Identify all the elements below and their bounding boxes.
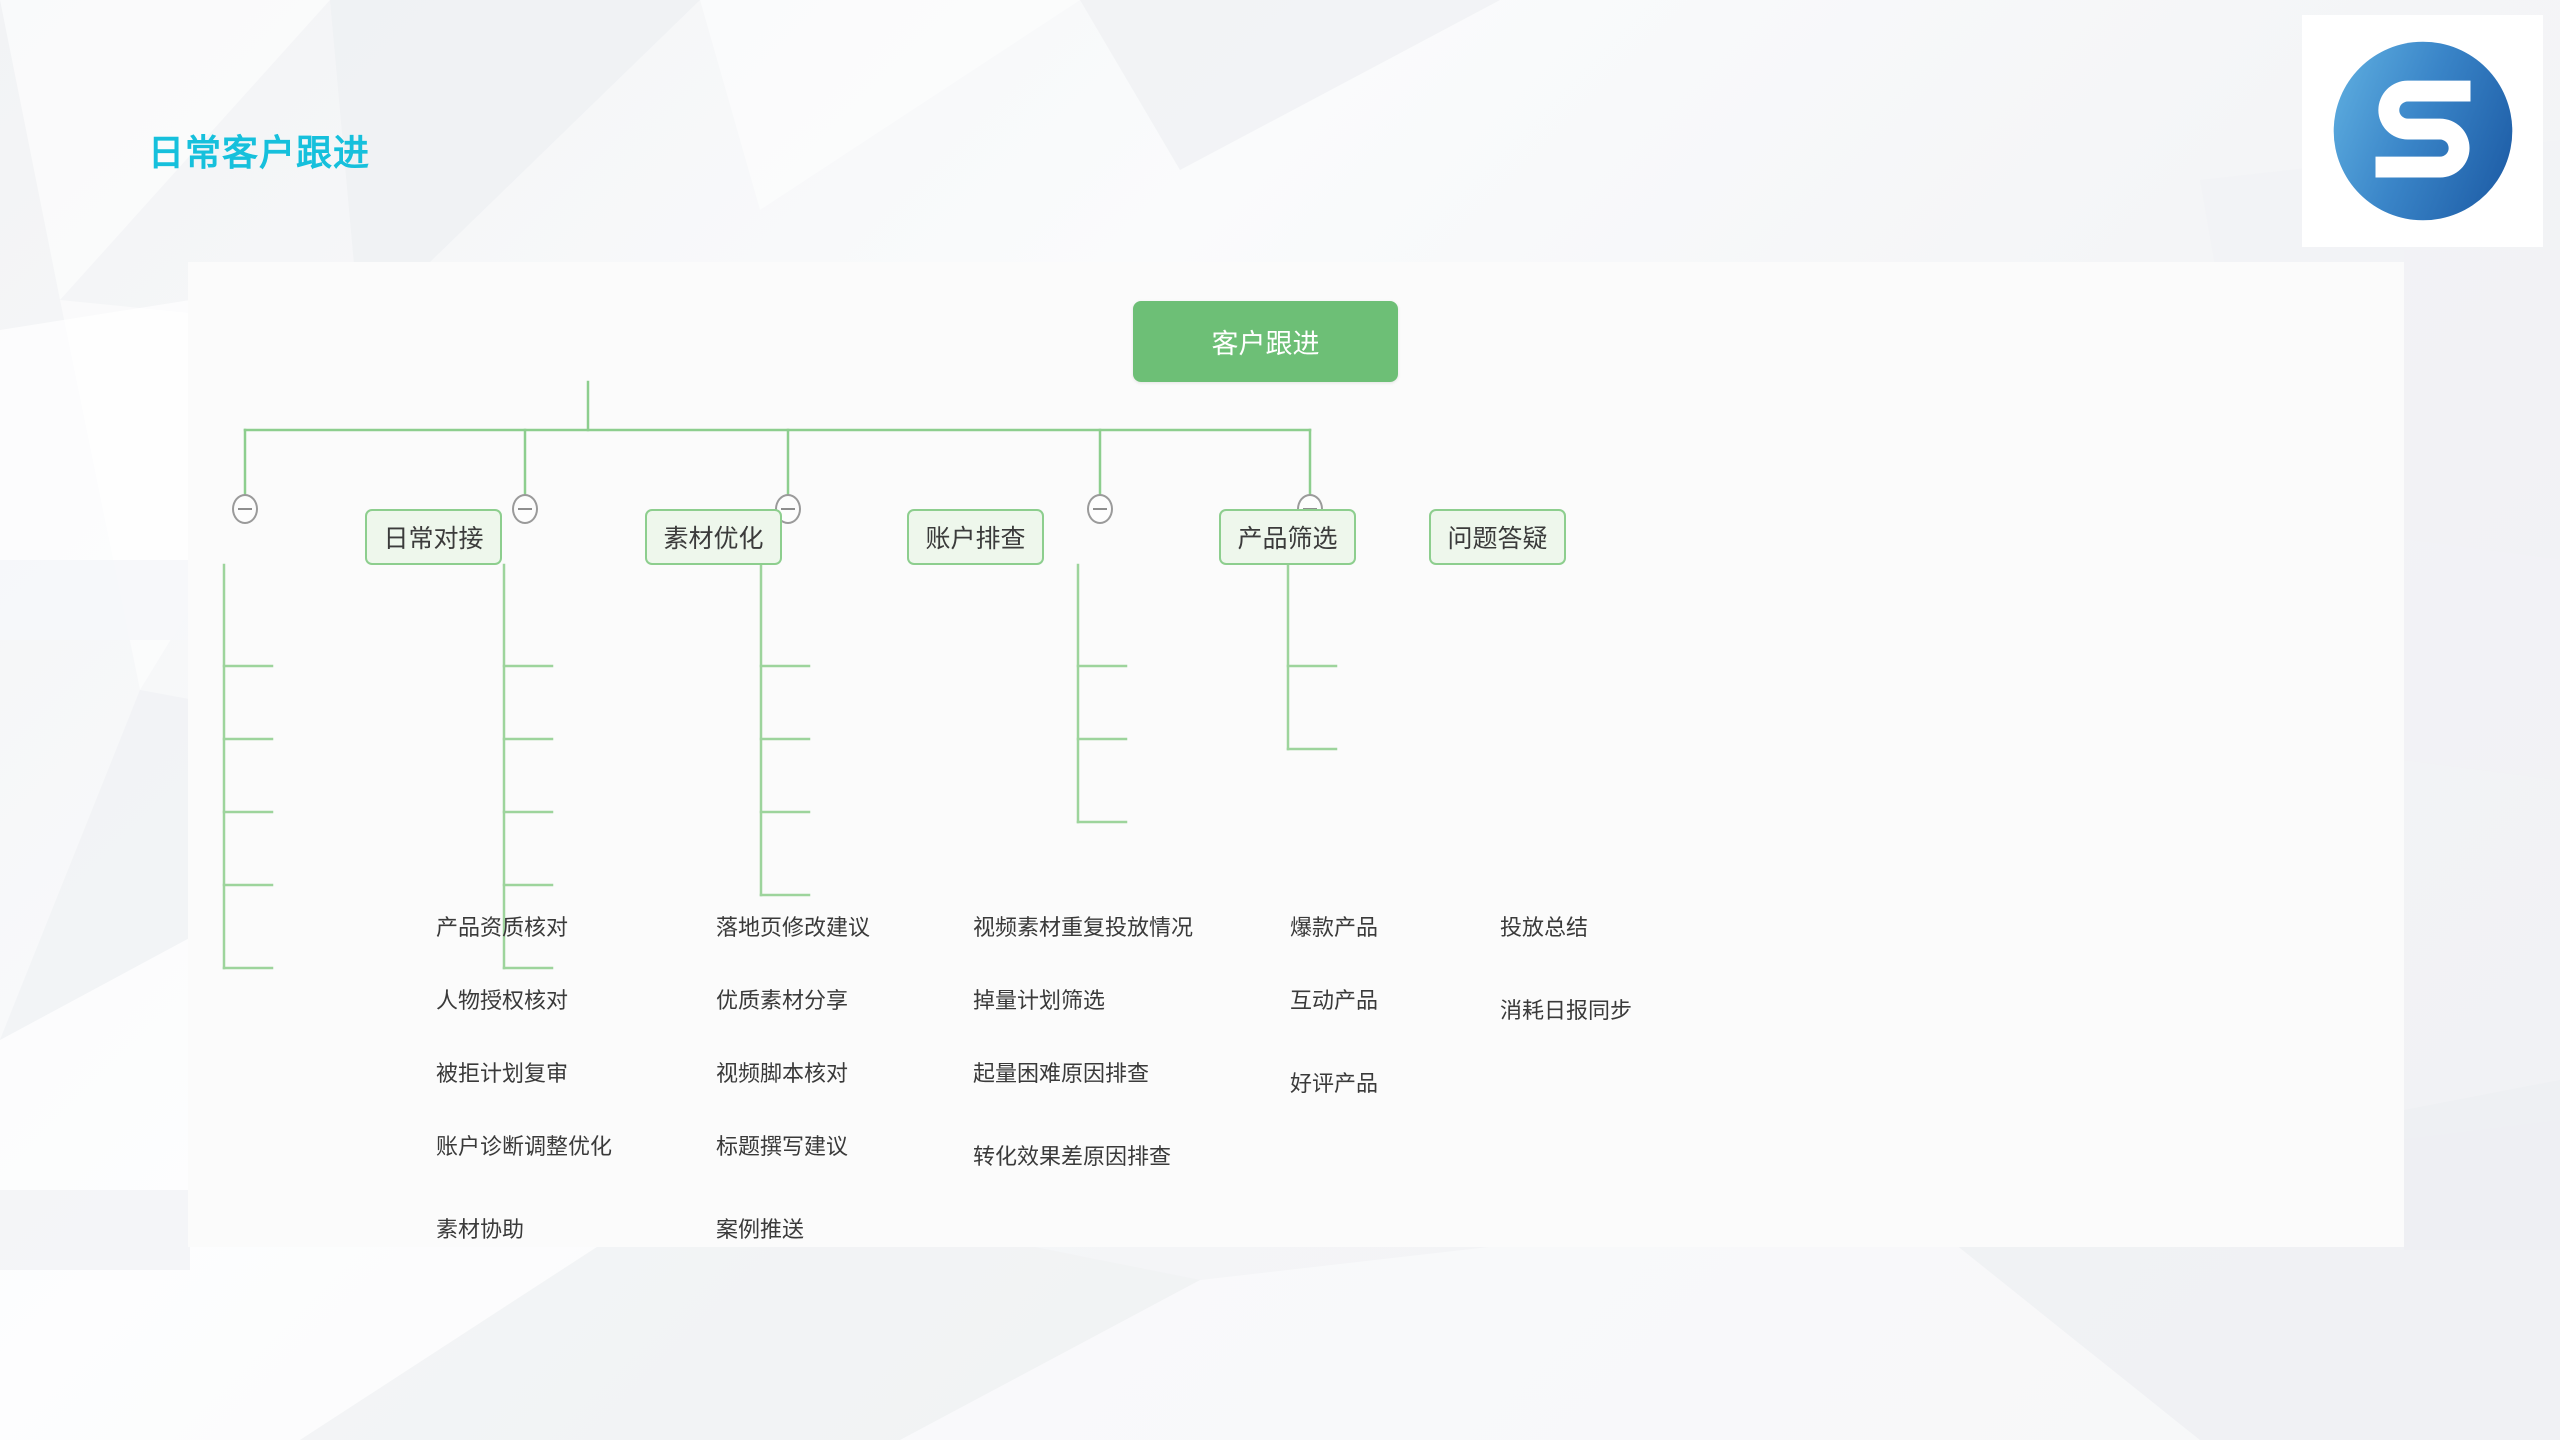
mindmap-leaf-label[interactable]: 视频素材重复投放情况: [973, 917, 1193, 939]
mindmap-branch-label: 素材优化: [663, 519, 763, 555]
mindmap-root-node[interactable]: 客户跟进: [1133, 301, 1398, 382]
mindmap-leaf-label[interactable]: 投放总结: [1500, 917, 1588, 939]
mindmap-leaf-label[interactable]: 被拒计划复审: [436, 1063, 568, 1085]
company-s-logo-icon: [2328, 36, 2518, 226]
mindmap-leaf-label[interactable]: 视频脚本核对: [716, 1063, 848, 1085]
mindmap-branch-label: 问题答疑: [1447, 519, 1547, 555]
mindmap-leaf-label[interactable]: 人物授权核对: [436, 990, 568, 1012]
mindmap-leaf-label[interactable]: 起量困难原因排查: [973, 1063, 1149, 1085]
mindmap-leaf-label[interactable]: 消耗日报同步: [1500, 1000, 1632, 1022]
mindmap-root-label: 客户跟进: [1212, 322, 1320, 361]
mindmap-branch-label: 账户排查: [925, 519, 1025, 555]
collapse-minus-icon[interactable]: [512, 494, 538, 524]
mindmap-connectors: [188, 262, 2404, 1247]
mindmap-leaf-label[interactable]: 产品资质核对: [436, 917, 568, 939]
mindmap-leaf-label[interactable]: 爆款产品: [1290, 917, 1378, 939]
mindmap-leaf-label[interactable]: 好评产品: [1290, 1073, 1378, 1095]
page-title: 日常客户跟进: [148, 124, 370, 176]
mindmap-leaf-label[interactable]: 掉量计划筛选: [973, 990, 1105, 1012]
collapse-minus-icon[interactable]: [232, 494, 258, 524]
mindmap-branch-label: 日常对接: [383, 519, 483, 555]
mindmap-branch-node-1[interactable]: 日常对接: [365, 509, 502, 565]
mindmap-branch-node-2[interactable]: 素材优化: [645, 509, 782, 565]
mindmap-leaf-label[interactable]: 优质素材分享: [716, 990, 848, 1012]
mindmap-leaf-label[interactable]: 案例推送: [716, 1219, 804, 1241]
mindmap-leaf-label[interactable]: 转化效果差原因排查: [973, 1146, 1171, 1168]
mindmap-branch-label: 产品筛选: [1237, 519, 1337, 555]
logo-container: [2302, 15, 2543, 247]
mindmap-leaf-label[interactable]: 标题撰写建议: [716, 1136, 848, 1158]
mindmap-leaf-label[interactable]: 互动产品: [1290, 990, 1378, 1012]
collapse-minus-icon[interactable]: [1087, 494, 1113, 524]
mindmap-canvas[interactable]: [188, 262, 2404, 1247]
mindmap-branch-node-3[interactable]: 账户排查: [907, 509, 1044, 565]
mindmap-branch-node-4[interactable]: 产品筛选: [1219, 509, 1356, 565]
mindmap-leaf-label[interactable]: 账户诊断调整优化: [436, 1136, 612, 1158]
mindmap-leaf-label[interactable]: 落地页修改建议: [716, 917, 870, 939]
mindmap-branch-node-5[interactable]: 问题答疑: [1429, 509, 1566, 565]
mindmap-leaf-label[interactable]: 素材协助: [436, 1219, 524, 1241]
